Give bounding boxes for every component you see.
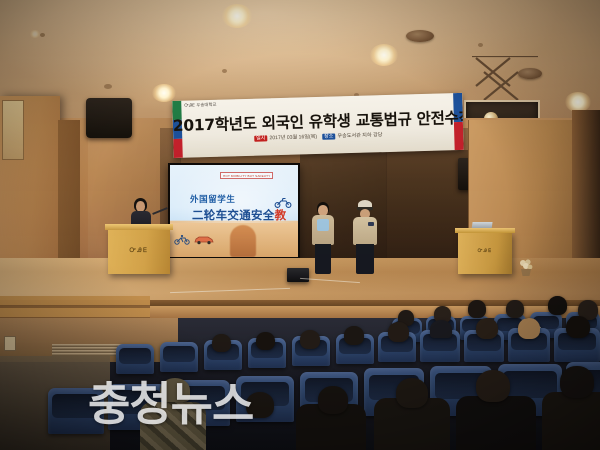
bicycle-icon bbox=[174, 232, 190, 250]
audience-head bbox=[566, 316, 590, 338]
audience-head bbox=[476, 370, 510, 402]
podium-left-top bbox=[105, 224, 173, 230]
audience-shoulders bbox=[542, 392, 600, 450]
podium-left-logo: ᏅᎯᎬ bbox=[108, 248, 170, 255]
wall-outlet bbox=[4, 336, 16, 351]
smoke-detector bbox=[40, 33, 45, 37]
audience-head bbox=[256, 332, 275, 350]
banner-place-label: 장소 bbox=[322, 133, 336, 139]
banner-date-label: 일시 bbox=[254, 135, 268, 141]
smoke-detector bbox=[222, 69, 227, 73]
recessed-downlight bbox=[565, 92, 591, 112]
audience-head bbox=[344, 326, 364, 345]
recessed-downlight bbox=[152, 84, 176, 102]
audience-head bbox=[212, 334, 231, 352]
slide-heading-line1: 外国留学生 bbox=[190, 193, 236, 205]
recessed-downlight bbox=[222, 4, 252, 28]
slide-line2-b: 交通安全 bbox=[227, 208, 274, 222]
presenter-right-legs bbox=[356, 244, 374, 274]
podium-right: ᏅᎯᎬ bbox=[458, 232, 512, 274]
recessed-downlight bbox=[370, 44, 398, 66]
audience-head-blonde bbox=[518, 318, 540, 339]
sprinkler-head bbox=[104, 84, 112, 89]
presenter-left-legs bbox=[315, 244, 331, 274]
audience-head bbox=[388, 322, 409, 342]
smoke-detector bbox=[478, 43, 483, 47]
presenter-right bbox=[352, 200, 378, 274]
audience-head bbox=[506, 300, 524, 318]
audience-head bbox=[548, 296, 567, 315]
news-watermark: 충청뉴스 bbox=[88, 368, 253, 434]
banner-org-logo: ᏅᎯᎬ 우송대학교 bbox=[184, 102, 216, 109]
wall-notice-frame bbox=[2, 100, 24, 160]
banner-place-value: 우송도서관 지하 강당 bbox=[337, 132, 382, 139]
car-icon bbox=[194, 232, 214, 250]
audience-head bbox=[300, 330, 320, 349]
slide-line2-a: 二轮车 bbox=[192, 208, 227, 222]
slide-tagline: HOT MOBILITY BUT SAFEUTY bbox=[220, 172, 273, 179]
audience-head bbox=[560, 366, 594, 398]
event-banner: ᏅᎯᎬ 우송대학교 2017학년도 외국인 유학생 교통법규 안전수칙 교육 일… bbox=[172, 93, 463, 158]
audience-head bbox=[318, 386, 348, 414]
presenter-left-held-paper bbox=[317, 219, 329, 231]
auditorium-photo: ᏅᎯᎬ 우송대학교 2017학년도 외국인 유학생 교통법규 안전수칙 교육 일… bbox=[0, 0, 600, 450]
audience-head bbox=[396, 378, 428, 408]
podium-left: ᏅᎯᎬ bbox=[108, 228, 170, 274]
audience-head bbox=[476, 318, 498, 339]
flower-pot bbox=[518, 258, 534, 276]
audience-shoulders bbox=[456, 396, 536, 450]
projection-screen: HOT MOBILITY BUT SAFEUTY 外国留学生 二轮车交通安全教育 bbox=[170, 165, 298, 257]
projection-screen-frame: HOT MOBILITY BUT SAFEUTY 外国留学生 二轮车交通安全教育 bbox=[168, 163, 300, 259]
podium-right-logo: ᏅᎯᎬ bbox=[458, 248, 512, 253]
banner-date-value: 2017년 03월 16일(목) bbox=[269, 134, 317, 141]
recessed-downlight bbox=[30, 30, 40, 38]
audience-head bbox=[468, 300, 486, 318]
audience-head-cap bbox=[430, 320, 452, 338]
stage-monitor-speaker bbox=[287, 268, 309, 282]
ceiling-vent bbox=[406, 30, 434, 42]
podium-right-top bbox=[455, 228, 515, 233]
presenter-right-badge bbox=[368, 222, 374, 226]
motorcycle-icon bbox=[274, 195, 292, 213]
hanging-speaker bbox=[86, 98, 132, 138]
presenter-left bbox=[311, 202, 335, 274]
silhouette-on-screen bbox=[230, 225, 256, 257]
